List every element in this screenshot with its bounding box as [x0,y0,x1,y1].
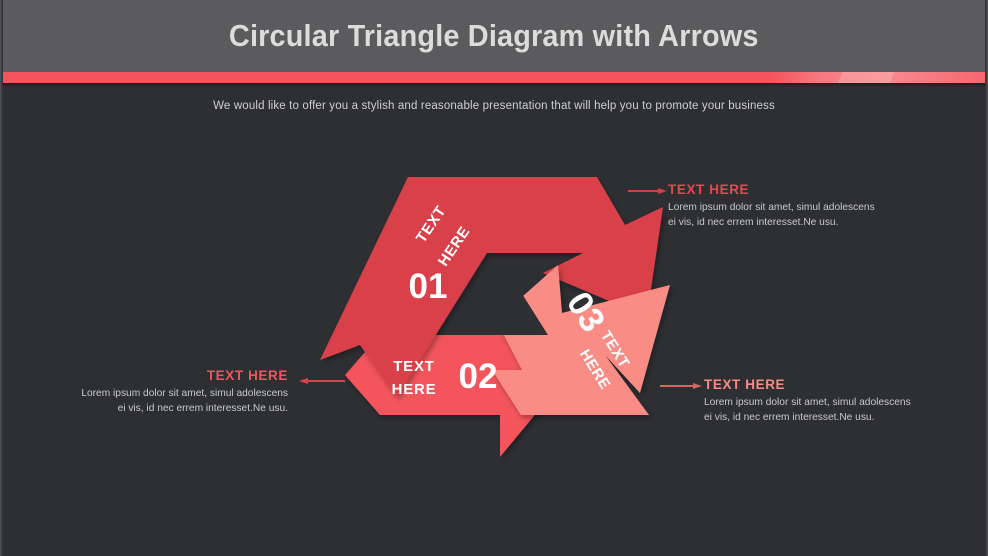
callout-left[interactable]: TEXT HERE Lorem ipsum dolor sit amet, si… [60,368,288,417]
arrow-02-label-line2: HERE [392,381,437,398]
callout-top-right[interactable]: TEXT HERE Lorem ipsum dolor sit amet, si… [668,182,908,231]
callout-body-line2: ei vis, id nec errem interesset.Ne usu. [60,402,288,417]
accent-bar [0,72,988,83]
connector-arrow-01 [628,186,668,196]
circular-triangle-diagram: TEXT HERE 01 TEXT HERE 02 03 TEXT HERE [300,165,700,515]
callout-body-line1: Lorem ipsum dolor sit amet, simul adoles… [668,201,908,216]
callout-body-line2: ei vis, id nec errem interesset.Ne usu. [668,216,908,231]
arrow-02-label-line1: TEXT [393,358,435,375]
callout-title: TEXT HERE [60,368,288,383]
callout-body-line1: Lorem ipsum dolor sit amet, simul adoles… [60,387,288,402]
connector-arrowhead-icon [299,378,308,384]
accent-bar-shadow [0,83,988,87]
connector-arrowhead-icon [658,188,667,194]
callout-bottom-right[interactable]: TEXT HERE Lorem ipsum dolor sit amet, si… [704,377,944,426]
connector-line [660,385,695,387]
slide-canvas: Circular Triangle Diagram with Arrows We… [0,0,988,556]
callout-body-line2: ei vis, id nec errem interesset.Ne usu. [704,411,944,426]
connector-arrow-02 [297,376,345,386]
callout-title: TEXT HERE [668,182,908,197]
callout-body-line1: Lorem ipsum dolor sit amet, simul adoles… [704,396,944,411]
connector-line [628,190,660,192]
connector-line [307,380,345,382]
callout-title: TEXT HERE [704,377,944,392]
connector-arrowhead-icon [693,383,702,389]
arrow-02-number: 02 [459,357,498,396]
page-title: Circular Triangle Diagram with Arrows [229,18,759,54]
slide-header: Circular Triangle Diagram with Arrows [0,0,988,72]
accent-bar-sheen-streak [838,72,894,83]
arrow-01-number: 01 [409,267,448,306]
slide-subtitle: We would like to offer you a stylish and… [0,100,988,112]
connector-arrow-03 [660,381,706,391]
